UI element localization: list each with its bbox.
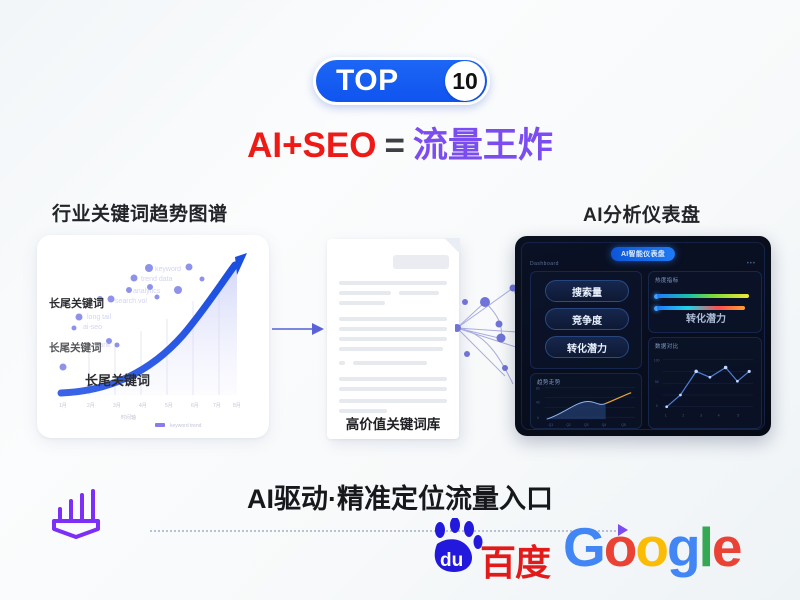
headline-right: 流量王炸 [413,126,553,165]
keyword-label-3: 长尾关键词 [85,370,150,389]
baidu-logo-mark: du [424,518,556,580]
keyword-label-2: 长尾关键词 [49,340,102,355]
metric-pill-conversion[interactable]: 转化潜力 [545,336,629,358]
svg-text:7月: 7月 [213,403,221,409]
svg-text:8月: 8月 [233,403,241,409]
metrics-panel: 搜索量 竞争度 转化潜力 [530,271,642,369]
doc-text-line [339,281,447,285]
area-chart-svg: Q1Q2Q3 Q4Q5 80400 [531,374,641,429]
doc-text-line [339,317,447,321]
svg-text:100: 100 [654,359,660,363]
svg-text:4: 4 [718,414,720,418]
metric-pill-search-volume[interactable]: 搜索量 [545,280,629,302]
doc-text-line [339,347,443,351]
flow-arrow-icon [272,322,324,336]
svg-text:3: 3 [700,414,702,418]
doc-text-line [339,327,447,331]
trend-area-panel: 趋势走势 Q1Q2Q3 Q4Q5 80400 [530,373,642,429]
svg-text:5月: 5月 [165,403,173,409]
svg-text:Q1: Q1 [549,423,554,427]
trend-chart-svg: keywordtrend data analyticssearch vol lo… [37,235,269,438]
svg-text:6月: 6月 [191,403,199,409]
data-comparison-panel: 数据对比 123 45 100500 [648,337,762,429]
svg-text:analytics: analytics [133,288,161,295]
dashboard-brand-label: Dashboard [530,261,559,267]
gradient-panel-caption: 转化潜力 [649,310,763,325]
doc-text-line [339,291,391,295]
svg-text:Q4: Q4 [602,423,607,427]
dashboard-screen: AI智能仪表盘 Dashboard ••• 搜索量 竞争度 转化潜力 趋势走势 [521,242,765,430]
doc-text-line [339,337,447,341]
metric-pill-competition[interactable]: 竞争度 [545,308,629,330]
svg-text:1: 1 [665,414,667,418]
svg-text:5: 5 [737,414,739,418]
svg-text:0: 0 [656,404,658,408]
doc-text-line [339,301,385,305]
footer-slogan: AI驱动·精准定位流量入口 [0,477,800,516]
heat-index-panel: 热度指标 转化潜力 [648,271,762,333]
svg-text:trend data: trend data [141,276,173,283]
svg-text:50: 50 [655,380,659,384]
trend-chart-card: keywordtrend data analyticssearch vol lo… [37,235,269,438]
svg-text:Q3: Q3 [584,423,589,427]
svg-text:1月: 1月 [59,403,67,409]
doc-header-block [393,255,449,269]
doc-text-line [339,377,447,381]
page-fold-corner [444,238,460,254]
svg-text:80: 80 [536,387,540,391]
svg-text:search vol: search vol [115,298,147,305]
google-letter-e: e [712,520,741,575]
svg-text:2月: 2月 [87,403,95,409]
svg-text:40: 40 [536,400,540,404]
gradient-panel-title: 热度指标 [655,276,679,284]
svg-text:0: 0 [537,416,539,420]
baidu-wordmark-du: du [440,550,463,571]
headline-left: AI+SEO [247,126,376,165]
top-badge-word: TOP [336,66,399,96]
svg-text:long tail: long tail [87,314,112,321]
svg-text:Q5: Q5 [621,423,626,427]
doc-text-line [339,361,345,365]
svg-text:2: 2 [682,414,684,418]
google-letter-g1: G [563,520,604,575]
svg-text:Q2: Q2 [566,423,571,427]
google-letter-g2: g [667,520,699,575]
doc-text-line [399,291,439,295]
doc-text-line [339,399,447,403]
keyword-library-document: 高价值关键词库 [327,239,459,439]
svg-text:时间轴: 时间轴 [121,414,136,421]
bar-chart-icon [48,487,110,543]
svg-text:keyword: keyword [155,266,181,273]
ai-dashboard-device: AI智能仪表盘 Dashboard ••• 搜索量 竞争度 转化潜力 趋势走势 [515,236,771,436]
line-chart-svg: 123 45 100500 [649,338,761,428]
svg-text:4月: 4月 [139,403,147,409]
google-logo: Google [563,520,740,575]
google-letter-o2: o [635,520,667,575]
dashboard-title-badge: AI智能仪表盘 [611,247,675,261]
doc-text-line [339,387,447,391]
svg-text:ai-seo: ai-seo [83,324,102,331]
top-badge-number: 10 [445,61,485,101]
svg-text:3月: 3月 [113,403,121,409]
google-letter-o1: o [604,520,636,575]
top-rank-badge: TOP 10 [313,57,490,105]
dashboard-menu-icon[interactable]: ••• [747,261,756,267]
heat-gradient-bar-1 [657,294,749,298]
page-title: AI+SEO=流量王炸 [0,128,800,163]
document-caption: 高价值关键词库 [327,413,459,433]
headline-equals: = [384,126,404,165]
keyword-label-1: 长尾关键词 [49,295,104,311]
doc-text-line [353,361,427,365]
google-letter-l: l [699,520,712,575]
svg-text:keyword trend: keyword trend [170,423,202,429]
section-heading-trend: 行业关键词趋势图谱 [52,199,228,226]
section-heading-dashboard: AI分析仪表盘 [583,200,701,227]
